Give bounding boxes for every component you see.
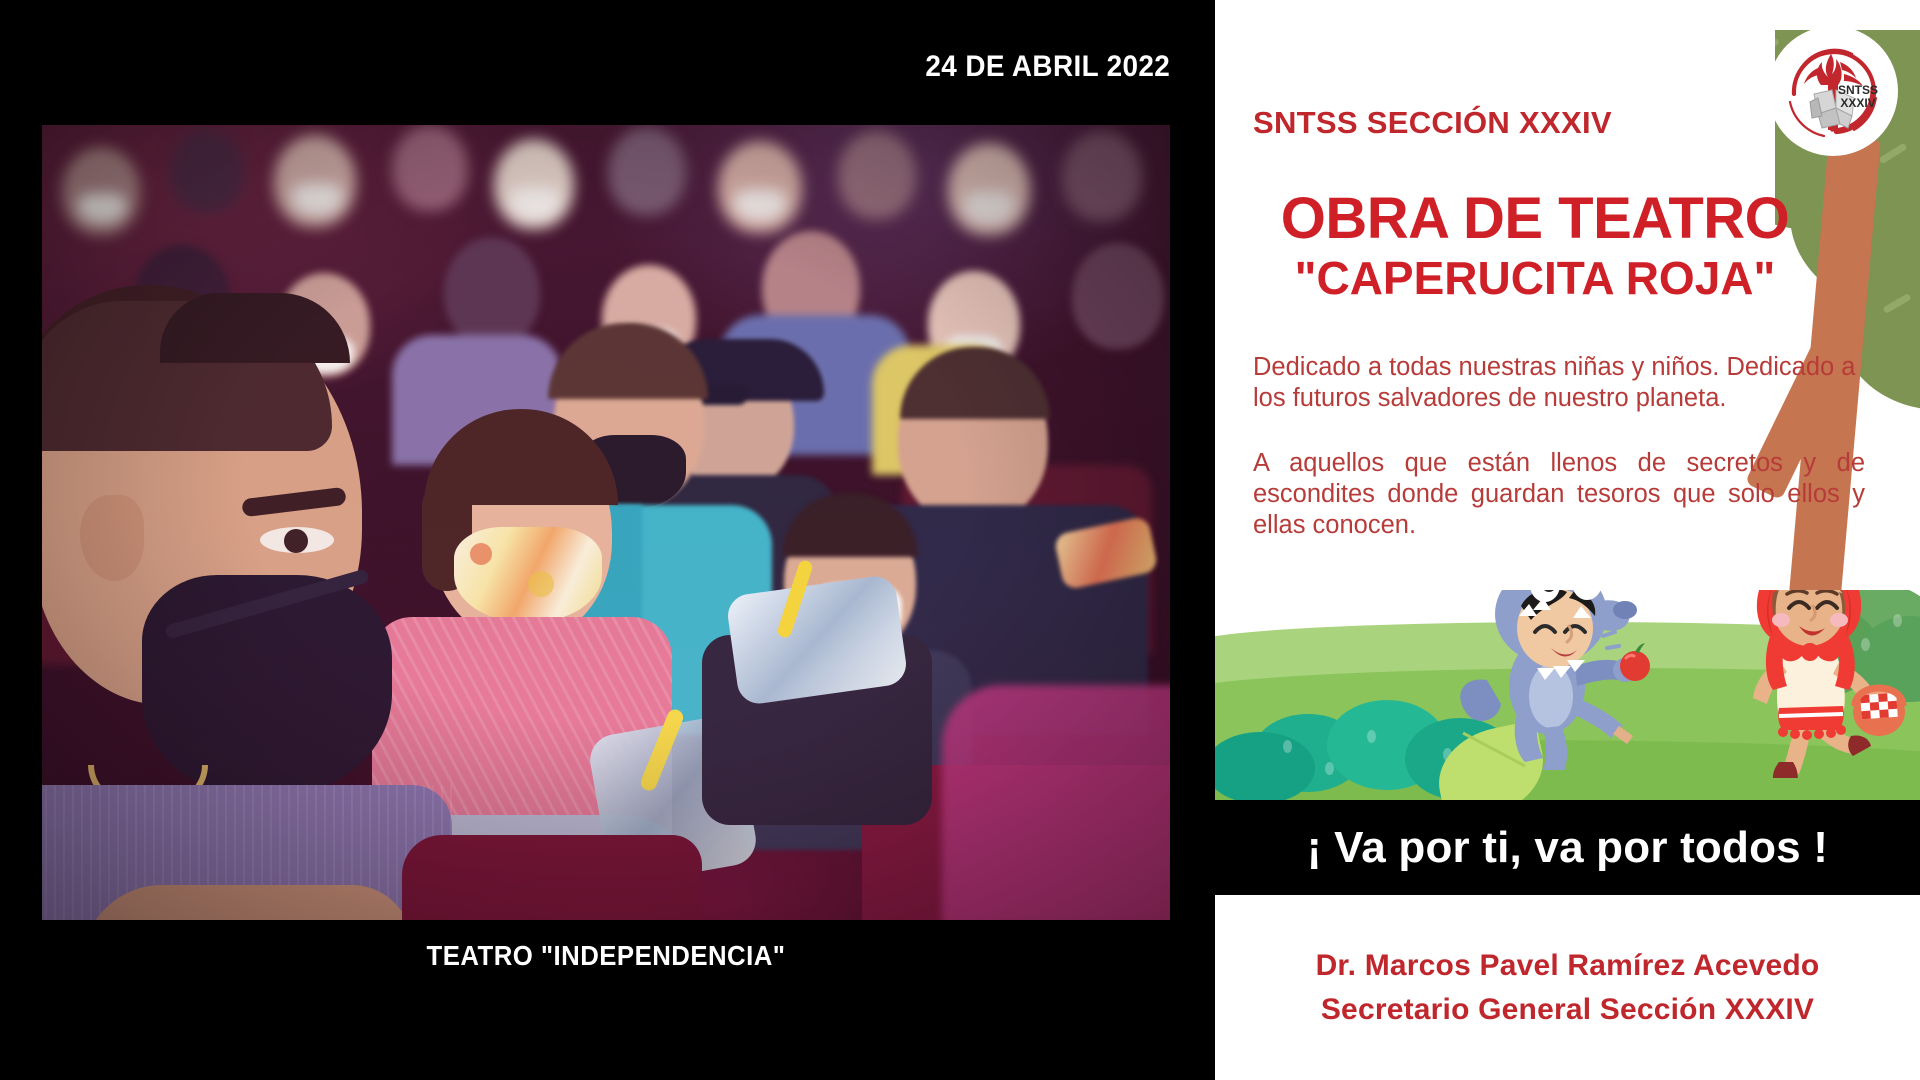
tagline-bar: ¡ Va por ti, va por todos ! — [1215, 800, 1920, 895]
venue-caption: TEATRO "INDEPENDENCIA" — [87, 940, 1125, 972]
signature-role: Secretario General Sección XXXIV — [1321, 993, 1814, 1027]
organization-label: SNTSS SECCIÓN XXXIV — [1253, 105, 1612, 141]
storybook-illustration — [1215, 590, 1920, 800]
logo-section-text: XXXIV — [1840, 96, 1875, 110]
poster-top-margin — [1215, 0, 1920, 30]
audience-photo — [42, 125, 1170, 920]
event-poster: SNTSS XXXIV SNTSS SECCIÓN XXXIV OBRA DE … — [1215, 0, 1920, 1080]
signature-block: Dr. Marcos Pavel Ramírez Acevedo Secreta… — [1215, 895, 1920, 1080]
poster-title: OBRA DE TEATRO — [1215, 190, 1855, 248]
wolf-hood-eyes-icon — [1515, 590, 1635, 615]
logo-acronym-text: SNTSS — [1838, 83, 1878, 97]
poster-body: SNTSS XXXIV SNTSS SECCIÓN XXXIV OBRA DE … — [1215, 0, 1920, 800]
sntss-logo: SNTSS XXXIV — [1768, 26, 1898, 156]
wolf-character-icon — [1443, 590, 1673, 770]
poster-paragraph-2: A aquellos que están llenos de secretos … — [1253, 448, 1865, 541]
event-date-label: 24 DE ABRIL 2022 — [925, 50, 1170, 84]
poster-paragraph-1: Dedicado a todas nuestras niñas y niños.… — [1253, 352, 1865, 414]
red-riding-hood-character-icon — [1713, 590, 1920, 778]
left-photo-panel: 24 DE ABRIL 2022 — [0, 0, 1215, 1080]
signature-name: Dr. Marcos Pavel Ramírez Acevedo — [1316, 949, 1820, 983]
poster-subtitle: "CAPERUCITA ROJA" — [1215, 255, 1855, 301]
tagline-text: ¡ Va por ti, va por todos ! — [1307, 823, 1828, 873]
